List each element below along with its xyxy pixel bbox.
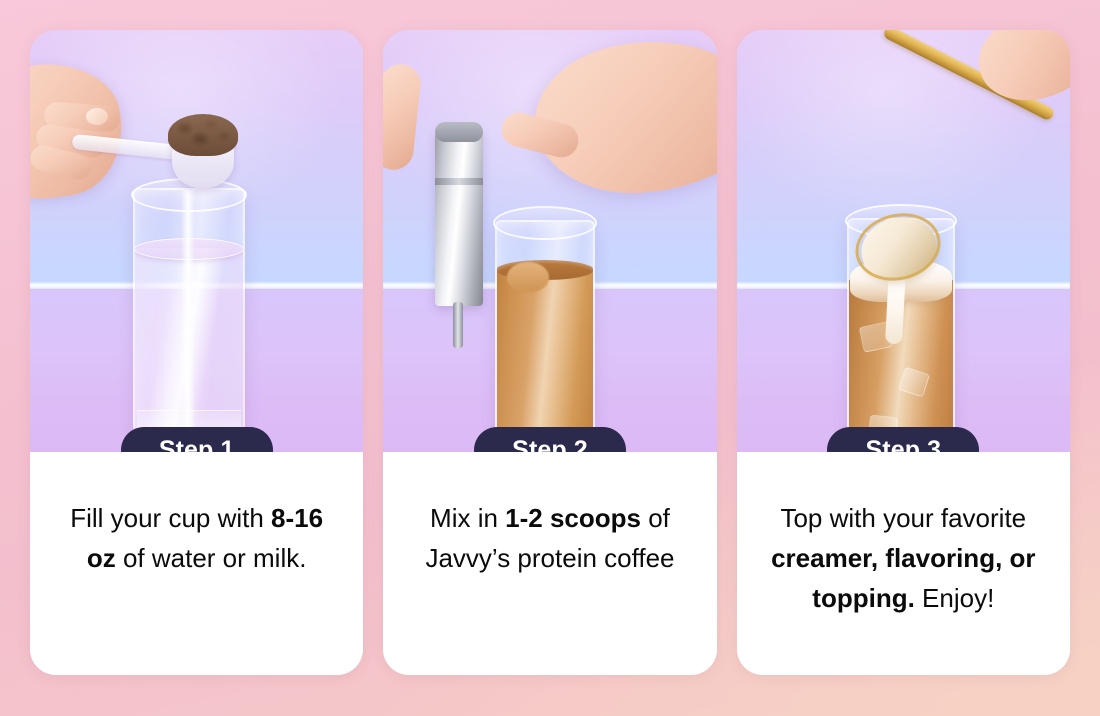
coffee-glass-icon bbox=[495, 220, 595, 452]
coffee-fill bbox=[497, 268, 593, 452]
step-1-caption-text: Fill your cup with 8-16 oz of water or m… bbox=[62, 498, 332, 578]
milk-frother-ring-icon bbox=[435, 178, 483, 185]
instruction-graphic: Step 1 Fill your cup with 8-16 oz of wat… bbox=[0, 0, 1100, 716]
step-card-2[interactable]: Step 2 Mix in 1-2 scoops of Javvy’s prot… bbox=[383, 30, 716, 675]
step-1-photo: Step 1 bbox=[30, 30, 363, 452]
fingernail-icon bbox=[86, 108, 108, 125]
milk-frother-icon bbox=[435, 126, 483, 306]
step-3-caption: Top with your favorite creamer, flavorin… bbox=[737, 452, 1070, 675]
step-2-photo: Step 2 bbox=[383, 30, 716, 452]
caption-segment: of water or milk. bbox=[116, 543, 307, 573]
step-2-caption-text: Mix in 1-2 scoops of Javvy’s protein cof… bbox=[415, 498, 685, 578]
glass-highlight-streak bbox=[181, 190, 195, 436]
step-badge-1: Step 1 bbox=[121, 427, 273, 452]
caption-segment-bold: 1-2 scoops bbox=[505, 503, 641, 533]
step-badge-3: Step 3 bbox=[827, 427, 979, 452]
water-glass-icon bbox=[133, 188, 245, 438]
caption-segment-bold: creamer, flavoring, or topping. bbox=[771, 543, 1035, 613]
step-1-caption: Fill your cup with 8-16 oz of water or m… bbox=[30, 452, 363, 675]
caption-segment: Top with your favorite bbox=[780, 503, 1026, 533]
glass-rim bbox=[493, 206, 597, 240]
step-badge-2: Step 2 bbox=[474, 427, 626, 452]
step-card-1[interactable]: Step 1 Fill your cup with 8-16 oz of wat… bbox=[30, 30, 363, 675]
milk-frother-shaft-icon bbox=[453, 302, 463, 348]
step-card-list: Step 1 Fill your cup with 8-16 oz of wat… bbox=[0, 0, 1100, 716]
step-2-caption: Mix in 1-2 scoops of Javvy’s protein cof… bbox=[383, 452, 716, 675]
caption-segment: Enjoy! bbox=[915, 583, 995, 613]
caption-segment: Fill your cup with bbox=[70, 503, 271, 533]
caption-segment: Mix in bbox=[430, 503, 505, 533]
protein-powder-icon bbox=[168, 114, 238, 156]
step-card-3[interactable]: Step 3 Top with your favorite creamer, f… bbox=[737, 30, 1070, 675]
step-3-caption-text: Top with your favorite creamer, flavorin… bbox=[768, 498, 1038, 618]
coffee-foam-icon bbox=[507, 262, 549, 292]
milk-frother-cap-icon bbox=[435, 122, 483, 142]
step-3-photo: Step 3 bbox=[737, 30, 1070, 452]
